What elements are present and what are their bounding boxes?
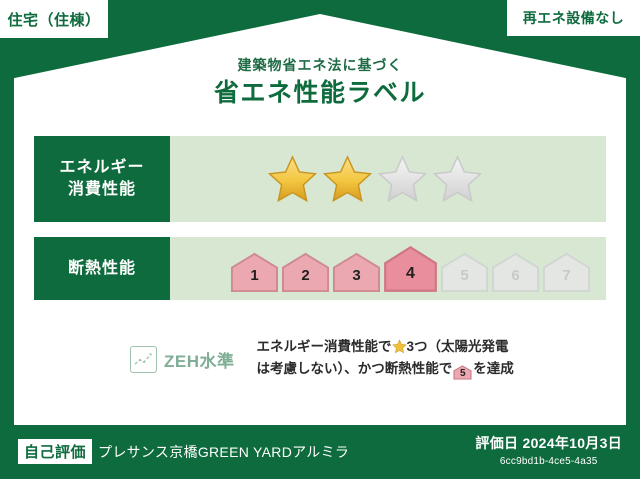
insulation-level-scale: 1234567 bbox=[230, 245, 591, 293]
insulation-level-5: 5 bbox=[440, 252, 489, 293]
insulation-label-text: 断熱性能 bbox=[68, 258, 136, 280]
tag-building-type: 住宅（住棟） bbox=[0, 0, 108, 38]
insulation-level-number: 6 bbox=[511, 267, 519, 293]
evaluation-id: 6cc9bd1b-4ce5-4a35 bbox=[475, 456, 622, 467]
energy-label-line-2: 消費性能 bbox=[68, 179, 136, 201]
achievement-line-1: エネルギー消費性能で 3つ（太陽光発電 bbox=[257, 336, 514, 358]
achievement-line1-prefix: エネルギー消費性能で bbox=[257, 339, 392, 354]
energy-performance-label: エネルギー 消費性能 bbox=[34, 136, 170, 222]
insulation-level-number: 2 bbox=[301, 267, 309, 293]
achievement-line-2: は考慮しない）、かつ断熱性能で 5 を達成 bbox=[257, 358, 514, 380]
row-energy-performance: エネルギー 消費性能 bbox=[34, 136, 606, 222]
star-filled-icon bbox=[266, 154, 319, 204]
achievement-line2-suffix: を達成 bbox=[473, 361, 514, 376]
insulation-level-6: 6 bbox=[491, 252, 540, 293]
self-evaluation-badge: 自己評価 bbox=[18, 439, 92, 464]
footer-left: 自己評価 プレサンス京橋GREEN YARDアルミラ bbox=[18, 439, 349, 464]
star-empty-icon bbox=[376, 154, 429, 204]
header-subtitle: 建築物省エネ法に基づく bbox=[0, 58, 640, 72]
footer: 自己評価 プレサンス京橋GREEN YARDアルミラ 評価日 2024年10月3… bbox=[0, 425, 640, 479]
page-title: 省エネ性能ラベル bbox=[0, 81, 640, 106]
insulation-level-number: 1 bbox=[250, 267, 258, 293]
star-icon bbox=[392, 339, 407, 354]
achievement-description: エネルギー消費性能で 3つ（太陽光発電 は考慮しない）、かつ断熱性能で 5 を達… bbox=[257, 336, 514, 380]
insulation-level-badge-value: 5 bbox=[453, 365, 472, 382]
star-empty-icon bbox=[431, 154, 484, 204]
insulation-performance-label: 断熱性能 bbox=[34, 237, 170, 300]
evaluation-date: 評価日 2024年10月3日 bbox=[475, 433, 622, 453]
zeh-standard-label: ZEH水準 bbox=[164, 347, 235, 372]
insulation-level-7: 7 bbox=[542, 252, 591, 293]
building-name: プレサンス京橋GREEN YARDアルミラ bbox=[98, 442, 349, 462]
tag-renewable-equipment: 再エネ設備なし bbox=[507, 0, 640, 36]
insulation-level-number: 3 bbox=[352, 267, 360, 293]
achievement-line2-prefix: は考慮しない）、かつ断熱性能で bbox=[257, 361, 453, 376]
insulation-level-number: 5 bbox=[460, 267, 468, 293]
insulation-level-number: 4 bbox=[406, 265, 415, 293]
chart-line-icon bbox=[130, 346, 157, 373]
zeh-standard-block: ZEH水準 bbox=[130, 346, 235, 373]
insulation-level-number: 7 bbox=[562, 267, 570, 293]
energy-performance-body bbox=[170, 136, 606, 222]
insulation-level-3: 3 bbox=[332, 252, 381, 293]
insulation-performance-body: 1234567 bbox=[170, 237, 606, 300]
footer-right: 評価日 2024年10月3日 6cc9bd1b-4ce5-4a35 bbox=[475, 433, 622, 467]
achievement-line1-suffix: 3つ（太陽光発電 bbox=[407, 339, 509, 354]
energy-label-line-1: エネルギー bbox=[59, 157, 144, 179]
star-rating bbox=[266, 154, 484, 204]
insulation-level-badge: 5 bbox=[453, 365, 472, 380]
insulation-level-4: 4 bbox=[383, 245, 438, 293]
insulation-level-2: 2 bbox=[281, 252, 330, 293]
zeh-note: ZEH水準 エネルギー消費性能で 3つ（太陽光発電 は考慮しない）、かつ断熱性能… bbox=[130, 336, 514, 380]
star-filled-icon bbox=[321, 154, 374, 204]
energy-label-root: 住宅（住棟） 再エネ設備なし 建築物省エネ法に基づく 省エネ性能ラベル エネルギ… bbox=[0, 0, 640, 479]
row-insulation-performance: 断熱性能 1234567 bbox=[34, 237, 606, 300]
header-title-block: 建築物省エネ法に基づく 省エネ性能ラベル bbox=[0, 58, 640, 106]
insulation-level-1: 1 bbox=[230, 252, 279, 293]
